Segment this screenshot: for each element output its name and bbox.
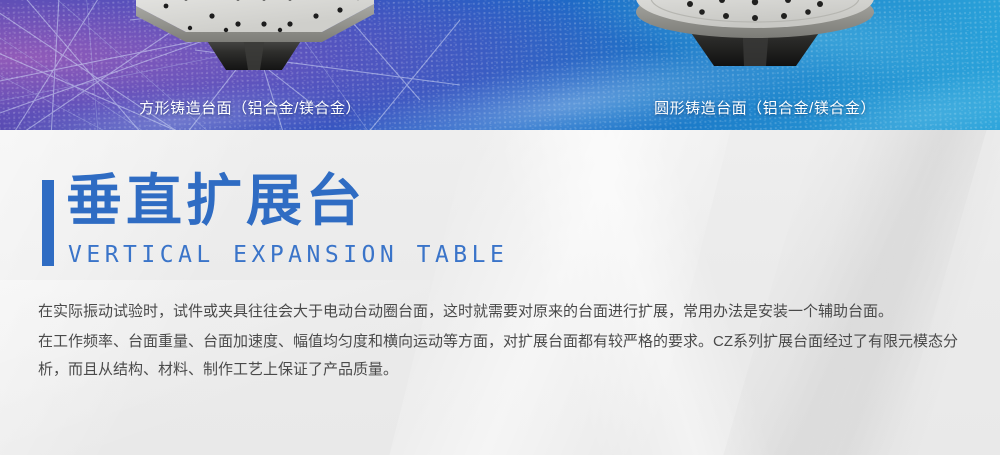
square-cast-table-image: [130, 0, 380, 74]
product-feature-page: 方形铸造台面（铝合金/镁合金） 圆形铸造台面（铝合金/镁合金） 垂直扩展台 VE…: [0, 0, 1000, 455]
background-facet: [723, 130, 986, 455]
content-area: 垂直扩展台 VERTICAL EXPANSION TABLE 在实际振动试验时，…: [0, 130, 1000, 455]
accent-bar: [42, 180, 54, 266]
hero-banner: 方形铸造台面（铝合金/镁合金） 圆形铸造台面（铝合金/镁合金）: [0, 0, 1000, 145]
page-title: 垂直扩展台: [66, 174, 366, 230]
paragraph-1: 在实际振动试验时，试件或夹具往往会大于电动台动圈台面，这时就需要对原来的台面进行…: [38, 298, 976, 326]
round-cast-table-image: [630, 0, 880, 70]
page-subtitle: VERTICAL EXPANSION TABLE: [68, 244, 508, 267]
caption-square-table: 方形铸造台面（铝合金/镁合金）: [0, 97, 500, 118]
caption-round-table: 圆形铸造台面（铝合金/镁合金）: [515, 97, 1000, 118]
background-facet: [389, 130, 730, 455]
body-copy: 在实际振动试验时，试件或夹具往往会大于电动台动圈台面，这时就需要对原来的台面进行…: [38, 298, 976, 384]
paragraph-2: 在工作频率、台面重量、台面加速度、幅值均匀度和横向运动等方面，对扩展台面都有较严…: [38, 328, 976, 384]
